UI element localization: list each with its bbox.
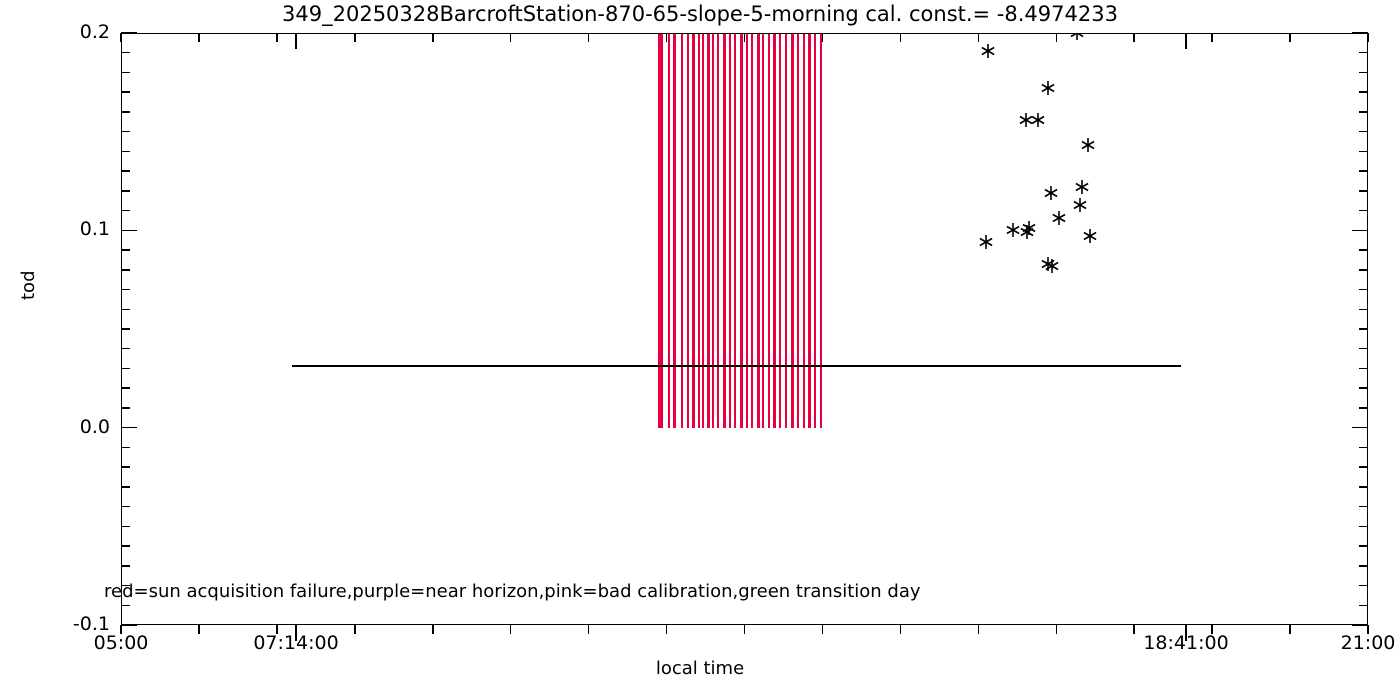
y-tick-minor-right xyxy=(1359,111,1368,113)
y-tick-minor-right xyxy=(1359,91,1368,93)
x-tick-minor-top xyxy=(354,33,356,42)
y-tick-minor xyxy=(121,545,130,547)
x-tick-minor xyxy=(1056,625,1058,634)
x-tick-minor-top xyxy=(822,33,824,42)
y-tick-minor-right xyxy=(1359,447,1368,449)
x-tick-label: 18:41:00 xyxy=(1143,632,1228,654)
y-tick-minor xyxy=(121,328,130,330)
y-tick-minor-right xyxy=(1359,506,1368,508)
x-tick-minor-top xyxy=(120,33,122,42)
y-tick-label-text: 0.0 xyxy=(80,416,110,438)
y-tick-minor-right xyxy=(1359,368,1368,370)
x-tick-minor xyxy=(744,625,746,634)
x-tick-minor xyxy=(588,625,590,634)
y-tick-minor-right xyxy=(1359,170,1368,172)
y-tick-minor-right xyxy=(1359,151,1368,153)
y-tick-minor xyxy=(121,526,130,528)
y-tick-minor-right xyxy=(1359,249,1368,251)
y-tick-minor xyxy=(121,605,130,607)
y-tick-minor xyxy=(121,565,130,567)
x-tick-minor-top xyxy=(1211,33,1213,42)
y-tick-major-right xyxy=(1352,230,1368,232)
y-tick-major xyxy=(121,624,137,626)
x-tick-minor xyxy=(1289,625,1291,634)
x-tick-minor-top xyxy=(276,33,278,42)
y-tick-minor xyxy=(121,289,130,291)
y-tick-major-right xyxy=(1352,624,1368,626)
x-tick-major-top xyxy=(1185,33,1187,49)
y-tick-minor-right xyxy=(1359,210,1368,212)
y-tick-label-text: 0.2 xyxy=(80,21,110,43)
y-tick-minor xyxy=(121,368,130,370)
y-tick-minor-right xyxy=(1359,309,1368,311)
y-tick-minor-right xyxy=(1359,585,1368,587)
x-tick-major-top xyxy=(295,33,297,49)
y-tick-minor-right xyxy=(1359,131,1368,133)
x-tick-minor-top xyxy=(588,33,590,42)
x-tick-minor-top xyxy=(1289,33,1291,42)
y-tick-minor-right xyxy=(1359,387,1368,389)
x-tick-minor-top xyxy=(510,33,512,42)
y-tick-minor xyxy=(121,131,130,133)
y-tick-minor-right xyxy=(1359,407,1368,409)
page-title: 349_20250328BarcroftStation-870-65-slope… xyxy=(0,2,1400,26)
x-axis-title: local time xyxy=(0,658,1400,679)
x-tick-minor xyxy=(900,625,902,634)
x-tick-minor-top xyxy=(1056,33,1058,42)
y-tick-minor xyxy=(121,387,130,389)
y-tick-minor xyxy=(121,466,130,468)
y-tick-minor xyxy=(121,52,130,54)
y-tick-minor-right xyxy=(1359,289,1368,291)
y-tick-major-right xyxy=(1352,32,1368,34)
y-tick-minor-right xyxy=(1359,466,1368,468)
x-tick-minor-top xyxy=(666,33,668,42)
y-axis-title: tod xyxy=(18,271,39,301)
x-tick-minor xyxy=(510,625,512,634)
x-tick-minor xyxy=(666,625,668,634)
y-tick-minor-right xyxy=(1359,348,1368,350)
x-tick-minor xyxy=(1133,625,1135,634)
y-tick-major-right xyxy=(1352,427,1368,429)
legend-note: red=sun acquisition failure,purple=near … xyxy=(104,581,921,602)
y-tick-minor xyxy=(121,170,130,172)
plot-canvas: 349_20250328BarcroftStation-870-65-slope… xyxy=(0,0,1400,700)
y-tick-minor-right xyxy=(1359,526,1368,528)
y-tick-minor xyxy=(121,506,130,508)
y-tick-minor-right xyxy=(1359,72,1368,74)
y-tick-major xyxy=(121,427,137,429)
y-tick-minor xyxy=(121,190,130,192)
x-tick-label: 21:00 xyxy=(1341,632,1396,654)
y-tick-minor xyxy=(121,486,130,488)
y-tick-minor xyxy=(121,111,130,113)
y-tick-minor-right xyxy=(1359,486,1368,488)
y-tick-minor-right xyxy=(1359,605,1368,607)
y-tick-minor xyxy=(121,151,130,153)
y-tick-minor xyxy=(121,407,130,409)
x-tick-minor xyxy=(432,625,434,634)
x-tick-label: 05:00 xyxy=(94,632,149,654)
plot-frame xyxy=(121,33,1368,625)
x-tick-minor-top xyxy=(1367,33,1369,42)
x-tick-minor-top xyxy=(1133,33,1135,42)
y-tick-minor-right xyxy=(1359,52,1368,54)
y-tick-minor xyxy=(121,309,130,311)
x-tick-minor-top xyxy=(198,33,200,42)
y-tick-label-text: 0.1 xyxy=(80,218,110,240)
y-tick-minor xyxy=(121,269,130,271)
y-tick-minor-right xyxy=(1359,545,1368,547)
x-tick-minor-top xyxy=(744,33,746,42)
x-tick-minor xyxy=(978,625,980,634)
y-tick-minor xyxy=(121,348,130,350)
x-tick-minor xyxy=(198,625,200,634)
y-tick-minor xyxy=(121,91,130,93)
x-tick-minor xyxy=(354,625,356,634)
x-tick-minor-top xyxy=(900,33,902,42)
x-tick-label: 07:14:00 xyxy=(253,632,338,654)
y-tick-minor xyxy=(121,447,130,449)
x-tick-minor xyxy=(822,625,824,634)
y-tick-minor xyxy=(121,72,130,74)
y-tick-minor-right xyxy=(1359,190,1368,192)
y-tick-minor xyxy=(121,210,130,212)
y-tick-minor-right xyxy=(1359,269,1368,271)
y-tick-minor xyxy=(121,249,130,251)
y-tick-major xyxy=(121,32,137,34)
y-tick-minor-right xyxy=(1359,565,1368,567)
y-tick-minor-right xyxy=(1359,328,1368,330)
x-tick-minor-top xyxy=(432,33,434,42)
x-tick-minor-top xyxy=(978,33,980,42)
y-tick-major xyxy=(121,230,137,232)
